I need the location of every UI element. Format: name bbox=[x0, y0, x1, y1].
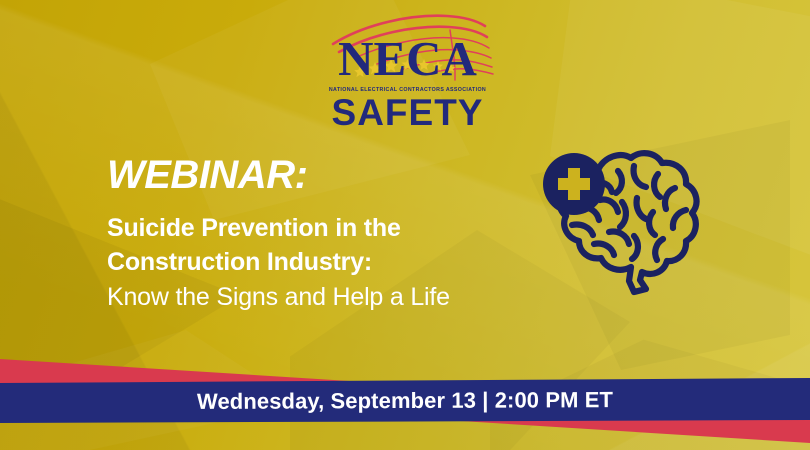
headline-block: WEBINAR: Suicide Prevention in the Const… bbox=[107, 155, 547, 315]
brain-with-medical-cross-icon bbox=[534, 140, 712, 300]
subtitle-line: Know the Signs and Help a Life bbox=[107, 281, 547, 315]
neca-safety-logo: NECA NATIONAL ELECTRICAL CONTRACTORS ASS… bbox=[315, 8, 500, 136]
title-line-2: Construction Industry: bbox=[107, 246, 547, 280]
eyebrow-webinar: WEBINAR: bbox=[107, 155, 547, 195]
logo-wordmark: NECA bbox=[315, 34, 500, 83]
title-line-1: Suicide Prevention in the bbox=[107, 212, 547, 246]
date-banner-text: Wednesday, September 13 | 2:00 PM ET bbox=[0, 376, 810, 425]
webinar-banner: NECA NATIONAL ELECTRICAL CONTRACTORS ASS… bbox=[0, 0, 810, 450]
logo-safety-word: SAFETY bbox=[315, 94, 500, 131]
